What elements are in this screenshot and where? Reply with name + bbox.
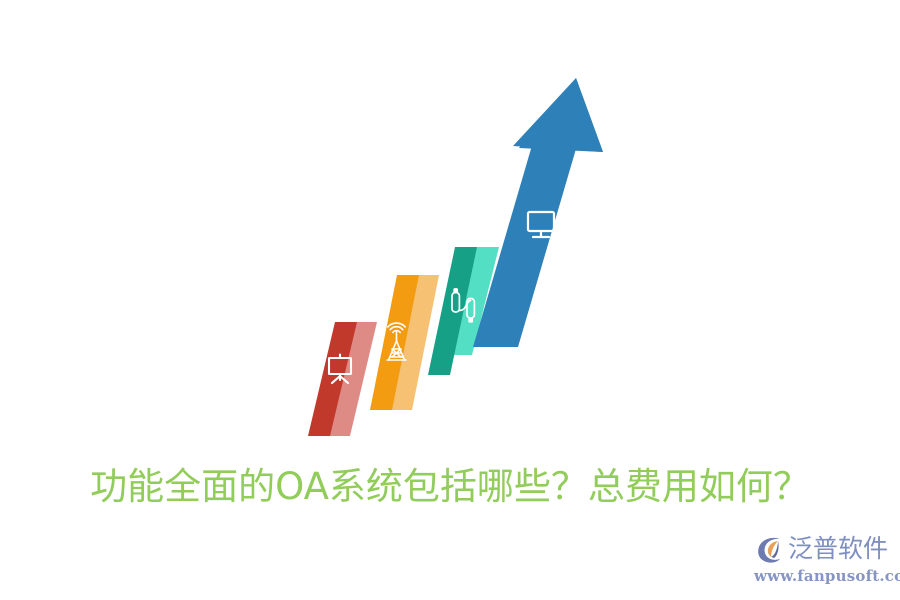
- arrow-segment-workstation: [473, 78, 603, 347]
- brand-logo-row: 泛普软件: [754, 532, 886, 566]
- brand-logo[interactable]: 泛普软件 www.fanpusoft.com: [754, 532, 886, 588]
- poster-canvas: 功能全面的OA系统包括哪些？总费用如何？ 泛普软件 www.fanpusoft.…: [0, 0, 900, 600]
- arrow-head-barb: [513, 78, 603, 152]
- fanpu-logo-mark-icon: [754, 534, 785, 565]
- arrow-segment-broadcast: [370, 275, 439, 410]
- arrow-segment-presentation: [308, 322, 377, 436]
- page-title: 功能全面的OA系统包括哪些？总费用如何？: [0, 462, 900, 512]
- segment-workstation-shaft: [473, 142, 578, 347]
- brand-url: www.fanpusoft.com: [754, 567, 886, 585]
- brand-name: 泛普软件: [788, 534, 888, 564]
